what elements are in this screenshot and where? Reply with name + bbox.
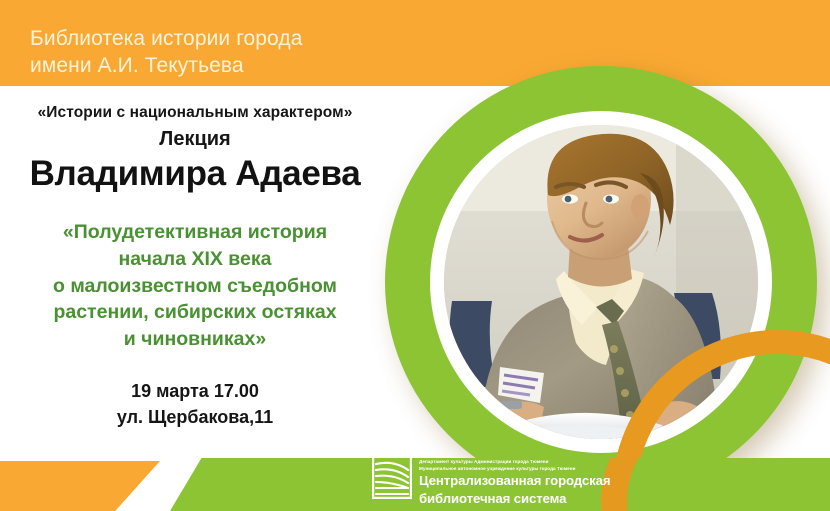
speaker-name: Владимира Адаева (0, 156, 390, 193)
library-name-header: Библиотека истории города имени А.И. Тек… (30, 26, 430, 80)
announcement-text-column: «Истории с национальным характером» Лекц… (0, 104, 390, 430)
logo-department-line-1: Департамент культуры Администрации город… (419, 458, 610, 465)
event-address: ул. Щербакова,11 (0, 405, 390, 431)
logo-name-line-2: библиотечная система (419, 491, 610, 507)
striped-book-pages-icon (372, 455, 412, 499)
quote-line: «Полудетективная история (0, 219, 390, 246)
header-line-2: имени А.И. Текутьева (30, 53, 430, 80)
logo-department-line-2: Муниципальное автономное учреждение куль… (419, 465, 610, 472)
library-system-logo: Департамент культуры Администрации город… (372, 455, 610, 507)
series-title: «Истории с национальным характером» (0, 104, 390, 122)
event-date-time: 19 марта 17.00 (0, 379, 390, 405)
speaker-portrait-photo (444, 125, 758, 439)
poster-canvas: Библиотека истории города имени А.И. Тек… (0, 0, 830, 511)
header-line-1: Библиотека истории города (30, 26, 430, 53)
quote-line: и чиновниках» (0, 326, 390, 353)
quote-line: начала XIX века (0, 246, 390, 273)
event-details: 19 марта 17.00 ул. Щербакова,11 (0, 379, 390, 430)
quote-line: растении, сибирских остяках (0, 299, 390, 326)
lecture-label: Лекция (0, 128, 390, 151)
footer-orange-swoosh (581, 458, 830, 511)
quote-line: о малоизвестном съедобном (0, 273, 390, 300)
logo-name-line-1: Централизованная городская (419, 473, 610, 489)
lecture-topic-quote: «Полудетективная история начала XIX века… (0, 219, 390, 354)
logo-text-group: Департамент культуры Администрации город… (419, 455, 610, 507)
